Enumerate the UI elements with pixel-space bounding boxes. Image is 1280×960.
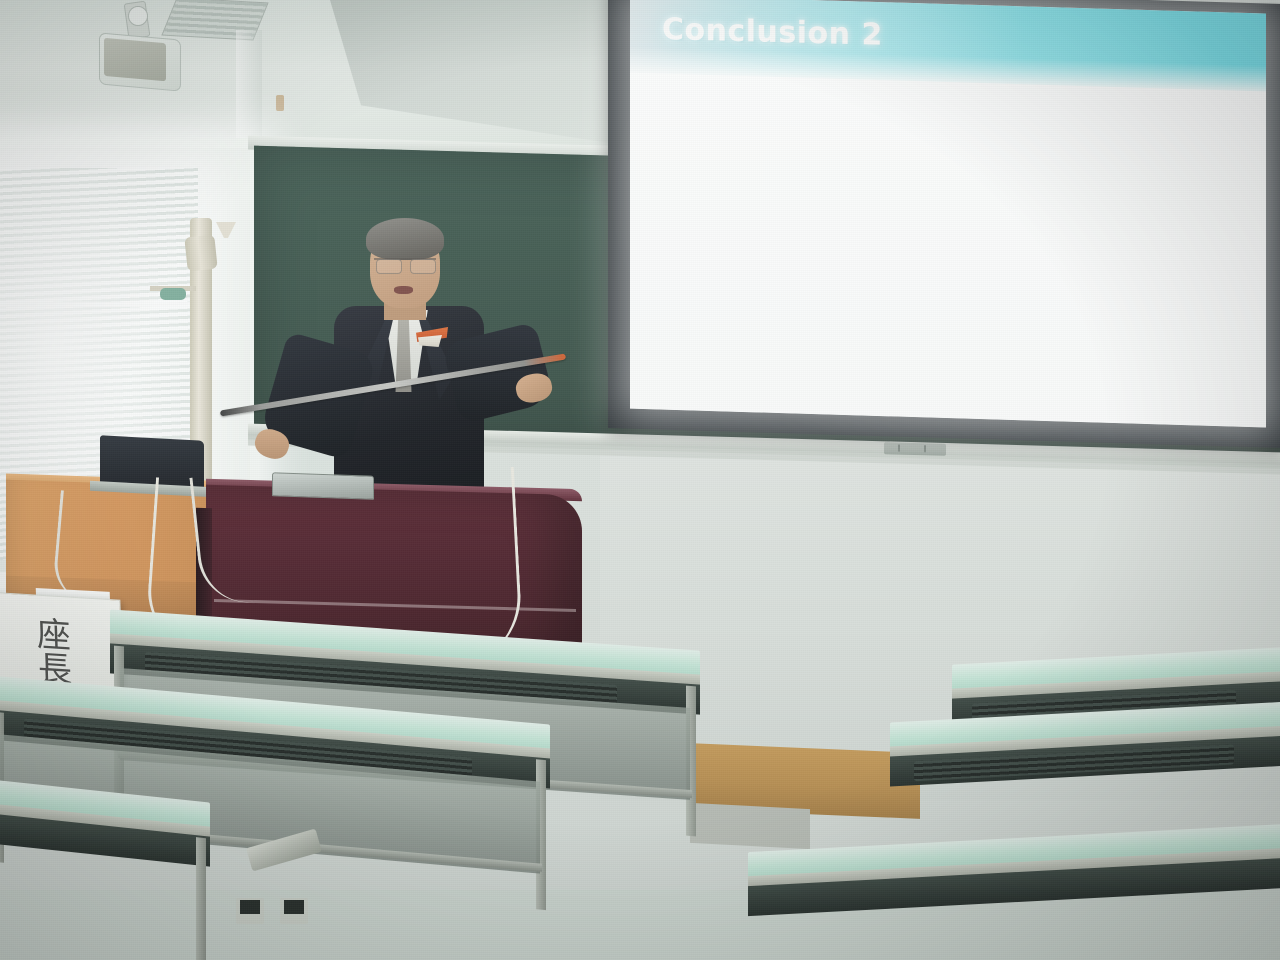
lecture-room-photo: Conclusion 2 座 長 <box>0 0 1280 960</box>
floor-shadow-band <box>690 803 810 849</box>
wall-marking <box>276 95 284 111</box>
wall-speaker-icon <box>99 32 181 91</box>
projected-slide: Conclusion 2 <box>630 0 1266 427</box>
pipe-joint <box>184 235 217 272</box>
projection-screen: Conclusion 2 <box>608 0 1280 448</box>
presenter-mouth <box>394 286 413 294</box>
speaker-mount-knob <box>128 6 148 26</box>
presenter-hair <box>366 218 444 260</box>
window-mullion <box>0 302 198 307</box>
presenter <box>250 214 570 504</box>
desk-foot <box>236 898 264 924</box>
desk-near-left <box>0 777 210 960</box>
pipe-valve[interactable] <box>160 288 186 300</box>
slide-title: Conclusion 2 <box>662 12 883 53</box>
laptop-on-lectern[interactable] <box>272 472 374 500</box>
projection-screen-bracket <box>884 442 946 456</box>
desk-foot <box>280 898 308 924</box>
speaker-grill <box>104 38 166 81</box>
eyeglasses-icon <box>374 258 436 273</box>
slide-body <box>630 73 1266 428</box>
conference-ribbon-badge <box>416 327 448 349</box>
